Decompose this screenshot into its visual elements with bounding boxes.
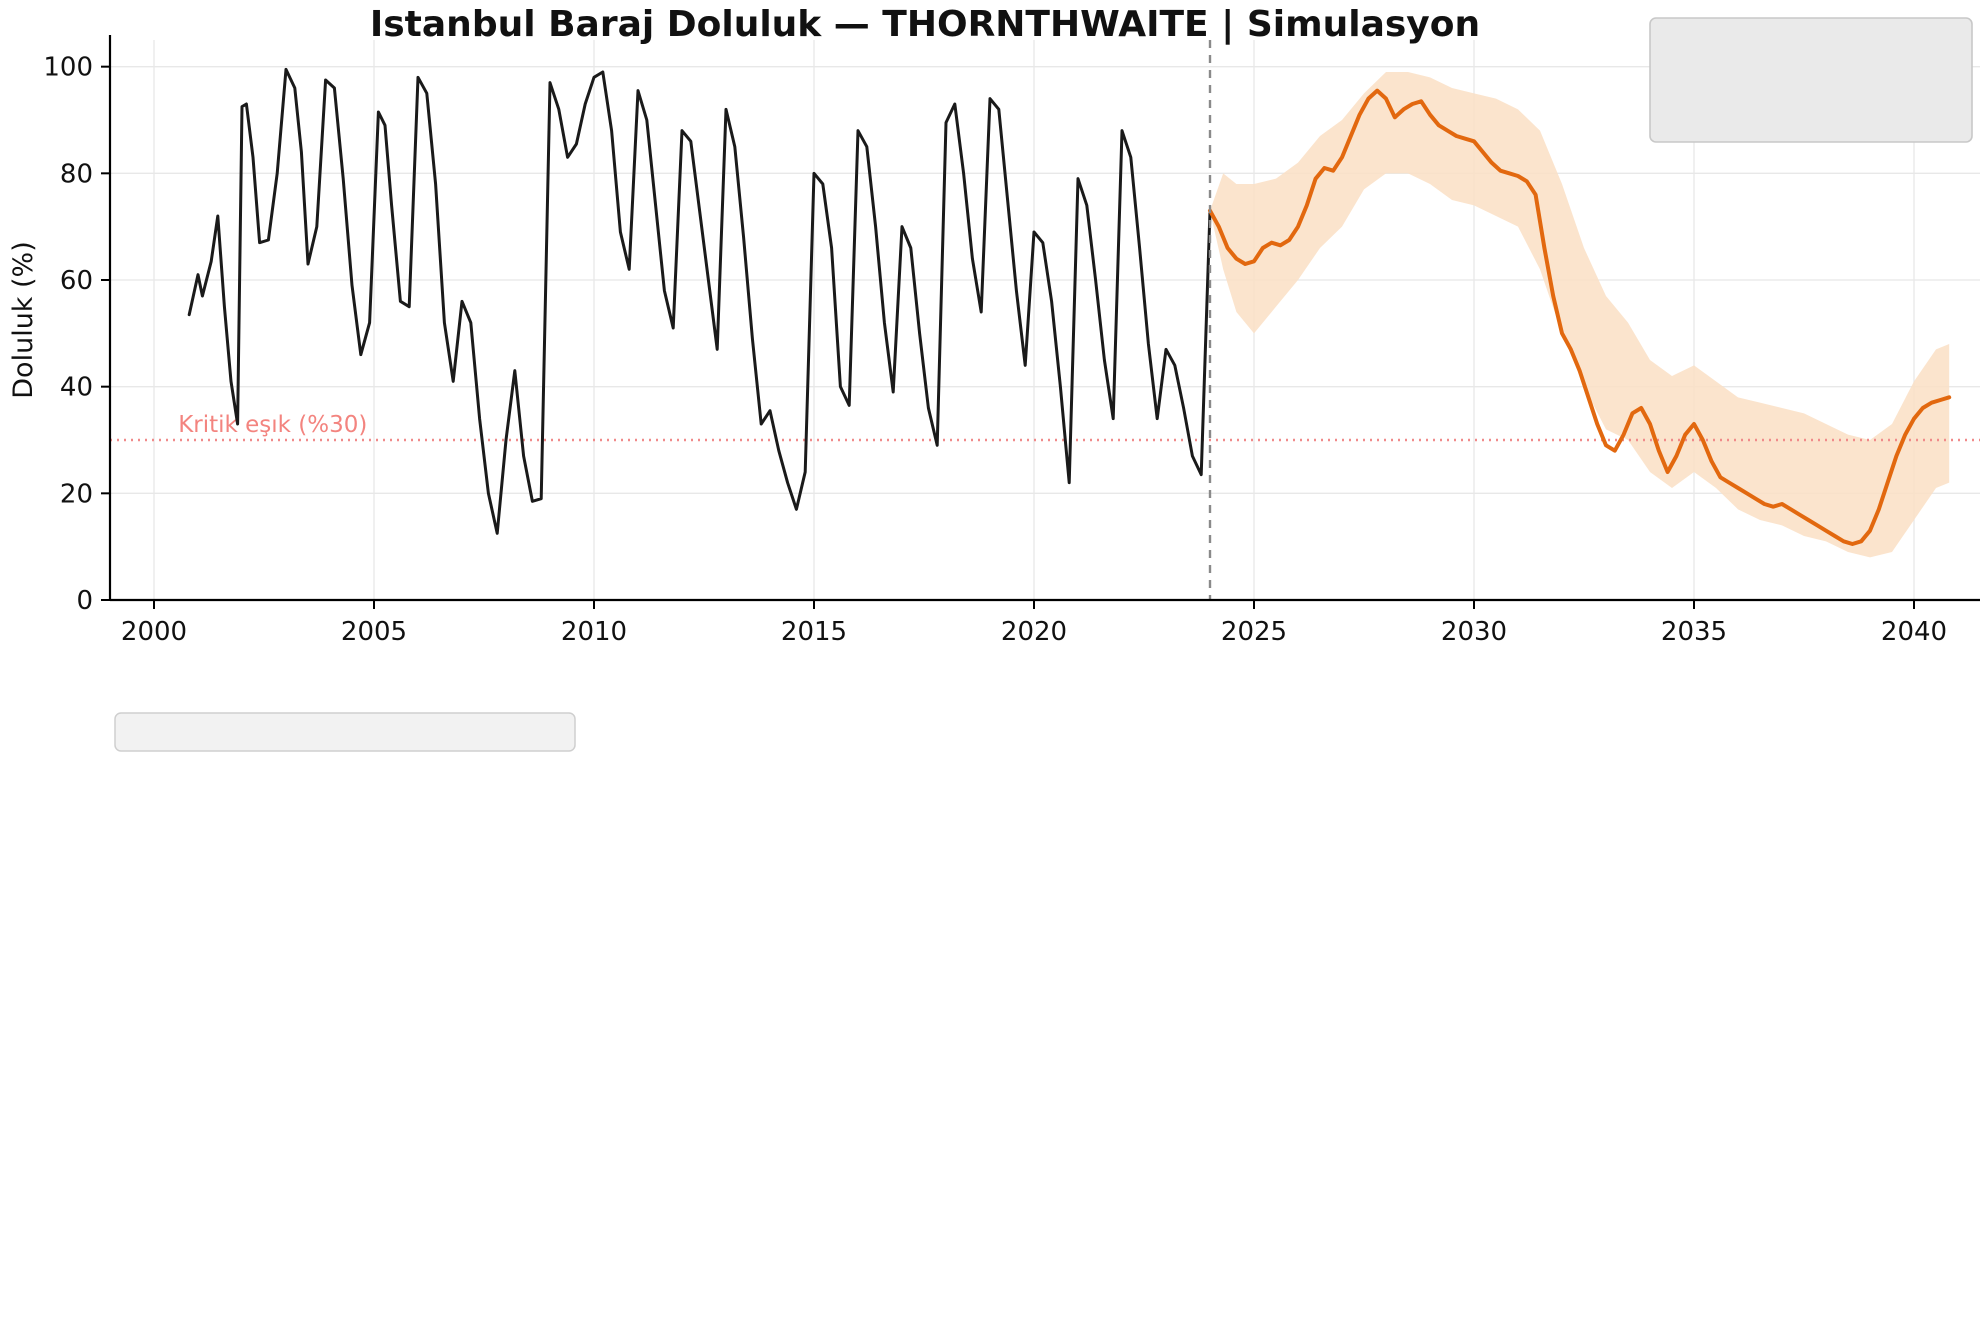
y-tick-label: 40 — [60, 373, 93, 403]
y-tick-label: 60 — [60, 266, 93, 296]
uncertainty-band — [1210, 72, 1949, 557]
main-legend-box — [1650, 18, 1972, 142]
figure-canvas: Kritik eşık (%30)02040608010020002005201… — [0, 0, 1981, 1338]
x-tick-label: 2030 — [1441, 617, 1507, 647]
x-tick-label: 2005 — [341, 617, 407, 647]
x-tick-label: 2025 — [1221, 617, 1287, 647]
metrics-box — [115, 713, 575, 751]
x-tick-label: 2035 — [1661, 617, 1727, 647]
main-chart-title: Istanbul Baraj Doluluk — THORNTHWAITE | … — [370, 4, 1480, 45]
x-tick-label: 2040 — [1881, 617, 1947, 647]
x-tick-label: 2000 — [121, 617, 187, 647]
x-tick-label: 2010 — [561, 617, 627, 647]
x-tick-label: 2015 — [781, 617, 847, 647]
y-tick-label: 20 — [60, 479, 93, 509]
critical-threshold-label: Kritik eşık (%30) — [178, 412, 367, 438]
y-tick-label: 80 — [60, 159, 93, 189]
y-tick-label: 100 — [43, 53, 93, 83]
chart-svg: Kritik eşık (%30)02040608010020002005201… — [0, 0, 1981, 1338]
observed-series-line — [189, 69, 1210, 533]
x-tick-label: 2020 — [1001, 617, 1067, 647]
main-y-axis-label: Doluluk (%) — [8, 241, 39, 398]
y-tick-label: 0 — [76, 586, 93, 616]
